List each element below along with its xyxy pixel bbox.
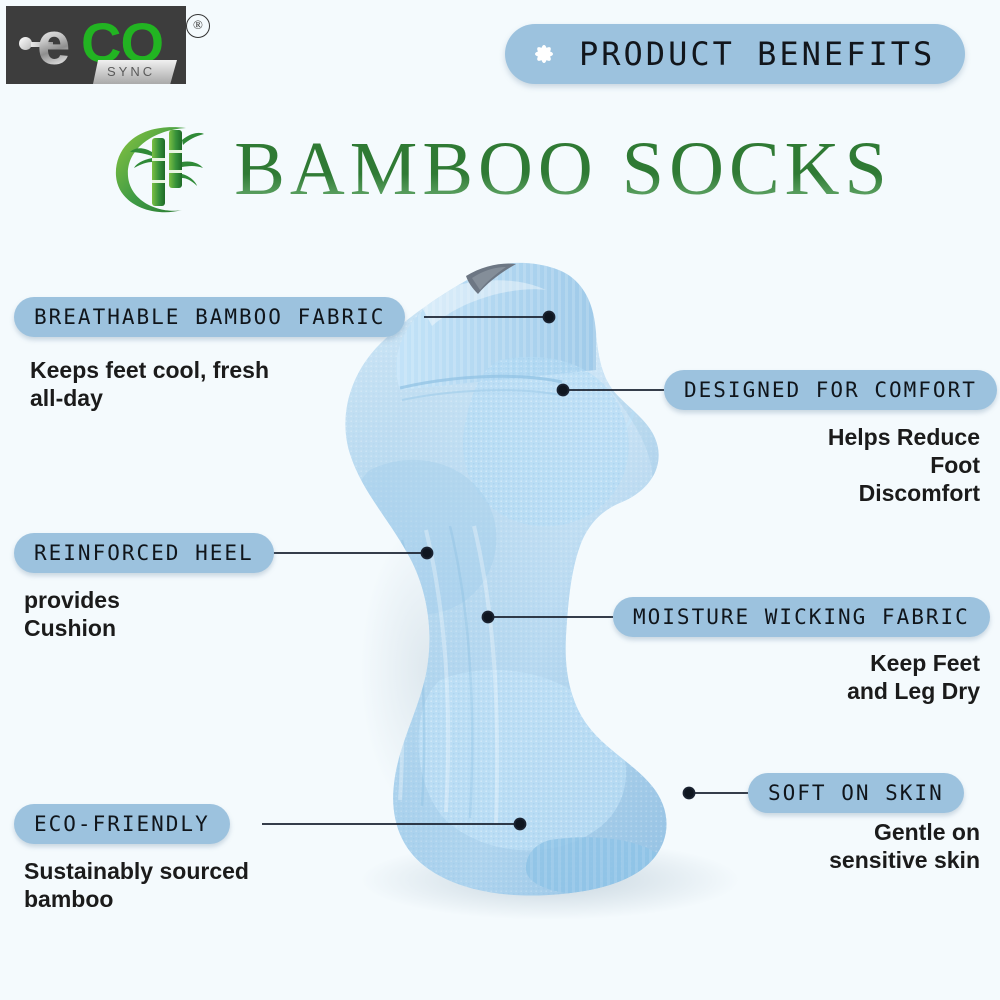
feature-label-breathable-bamboo-fabric: BREATHABLE BAMBOO FABRIC — [34, 305, 385, 329]
feature-label-moisture-wicking-fabric: MOISTURE WICKING FABRIC — [633, 605, 970, 629]
feature-desc-breathable-bamboo-fabric: Keeps feet cool, fresh all-day — [30, 356, 360, 412]
flower-asterisk-icon — [527, 37, 561, 71]
brand-logo-inner: e CO SYNC — [11, 10, 181, 80]
infographic-canvas: e CO SYNC ® PRODUCT BENEFITS — [0, 0, 1000, 1000]
feature-pill-moisture-wicking-fabric[interactable]: MOISTURE WICKING FABRIC — [613, 597, 990, 637]
feature-pill-breathable-bamboo-fabric[interactable]: BREATHABLE BAMBOO FABRIC — [14, 297, 405, 337]
feature-desc-designed-for-comfort: Helps Reduce Foot Discomfort — [660, 423, 980, 507]
brand-letter-e: e — [37, 16, 70, 72]
feature-label-reinforced-heel: REINFORCED HEEL — [34, 541, 254, 565]
feature-pill-designed-for-comfort[interactable]: DESIGNED FOR COMFORT — [664, 370, 997, 410]
feature-label-designed-for-comfort: DESIGNED FOR COMFORT — [684, 378, 977, 402]
feature-pill-reinforced-heel[interactable]: REINFORCED HEEL — [14, 533, 274, 573]
feature-label-eco-friendly: ECO-FRIENDLY — [34, 812, 210, 836]
feature-pill-eco-friendly[interactable]: ECO-FRIENDLY — [14, 804, 230, 844]
page-title-row: BAMBOO SOCKS — [0, 112, 1000, 227]
feature-desc-soft-on-skin: Gentle on sensitive skin — [680, 818, 980, 874]
registered-trademark-icon: ® — [186, 14, 210, 38]
brand-logo-badge: e CO SYNC — [6, 6, 186, 84]
feature-desc-moisture-wicking-fabric: Keep Feet and Leg Dry — [660, 649, 980, 705]
brand-sync-label: SYNC — [107, 64, 155, 79]
sock-illustration — [250, 240, 750, 940]
feature-desc-reinforced-heel: provides Cushion — [24, 586, 324, 642]
bamboo-leaf-icon — [108, 118, 216, 222]
feature-label-soft-on-skin: SOFT ON SKIN — [768, 781, 944, 805]
header-title: PRODUCT BENEFITS — [579, 35, 935, 73]
product-image-sock — [250, 240, 750, 940]
feature-pill-soft-on-skin[interactable]: SOFT ON SKIN — [748, 773, 964, 813]
feature-desc-eco-friendly: Sustainably sourced bamboo — [24, 857, 344, 913]
product-benefits-header: PRODUCT BENEFITS — [505, 24, 965, 84]
page-title: BAMBOO SOCKS — [234, 126, 892, 213]
